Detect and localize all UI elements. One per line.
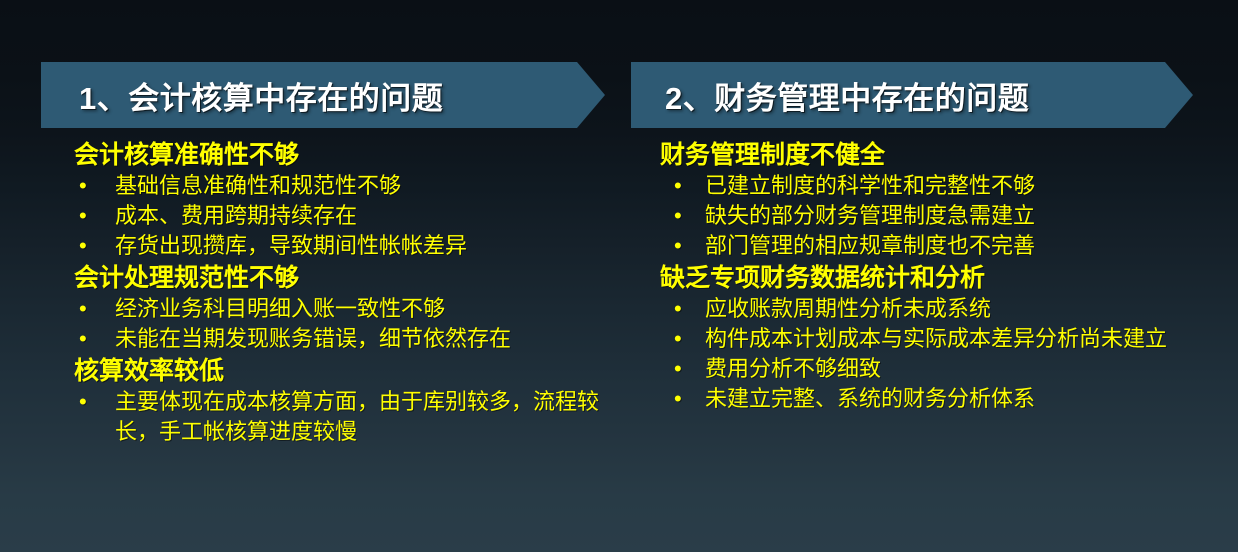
group-heading: 财务管理制度不健全 [660, 140, 1205, 171]
bullet-list: • 基础信息准确性和规范性不够 • 成本、费用跨期持续存在 • 存货出现攒库，导… [74, 171, 619, 261]
content-column-left: 会计核算准确性不够 • 基础信息准确性和规范性不够 • 成本、费用跨期持续存在 … [74, 140, 619, 449]
list-item-label: 部门管理的相应规章制度也不完善 [705, 231, 1205, 261]
list-item-label: 缺失的部分财务管理制度急需建立 [705, 201, 1205, 231]
list-item-label: 已建立制度的科学性和完整性不够 [705, 171, 1205, 201]
list-item: • 经济业务科目明细入账一致性不够 [74, 294, 619, 324]
list-item-label: 费用分析不够细致 [705, 354, 1205, 384]
bullet-dot-icon: • [674, 324, 682, 354]
list-item-label: 经济业务科目明细入账一致性不够 [115, 294, 619, 324]
list-item: • 应收账款周期性分析未成系统 [660, 294, 1205, 324]
bullet-dot-icon: • [79, 231, 87, 261]
section-banner-1-label: 1、会计核算中存在的问题 [79, 73, 443, 118]
list-item-label: 成本、费用跨期持续存在 [115, 201, 619, 231]
group-heading: 核算效率较低 [74, 356, 619, 387]
list-item-label: 基础信息准确性和规范性不够 [115, 171, 619, 201]
bullet-dot-icon: • [674, 354, 682, 384]
content-group: 缺乏专项财务数据统计和分析 • 应收账款周期性分析未成系统 • 构件成本计划成本… [660, 263, 1205, 414]
list-item-label: 构件成本计划成本与实际成本差异分析尚未建立 [705, 324, 1205, 354]
group-heading: 会计处理规范性不够 [74, 263, 619, 294]
slide-canvas: 1、会计核算中存在的问题 2、财务管理中存在的问题 会计核算准确性不够 • 基础… [0, 0, 1238, 552]
list-item: • 部门管理的相应规章制度也不完善 [660, 231, 1205, 261]
list-item: • 成本、费用跨期持续存在 [74, 201, 619, 231]
bullet-list: • 应收账款周期性分析未成系统 • 构件成本计划成本与实际成本差异分析尚未建立 … [660, 294, 1205, 414]
list-item: • 已建立制度的科学性和完整性不够 [660, 171, 1205, 201]
list-item: • 存货出现攒库，导致期间性帐帐差异 [74, 231, 619, 261]
list-item-label: 未能在当期发现账务错误，细节依然存在 [115, 324, 619, 354]
section-banner-2: 2、财务管理中存在的问题 [631, 62, 1193, 128]
bullet-dot-icon: • [79, 324, 87, 354]
bullet-dot-icon: • [79, 387, 87, 417]
bullet-dot-icon: • [674, 384, 682, 414]
bullet-dot-icon: • [79, 294, 87, 324]
group-heading: 缺乏专项财务数据统计和分析 [660, 263, 1205, 294]
bullet-list: • 已建立制度的科学性和完整性不够 • 缺失的部分财务管理制度急需建立 • 部门… [660, 171, 1205, 261]
content-group: 会计处理规范性不够 • 经济业务科目明细入账一致性不够 • 未能在当期发现账务错… [74, 263, 619, 354]
content-column-right: 财务管理制度不健全 • 已建立制度的科学性和完整性不够 • 缺失的部分财务管理制… [660, 140, 1205, 416]
section-banner-1: 1、会计核算中存在的问题 [41, 62, 605, 128]
bullet-dot-icon: • [79, 201, 87, 231]
bullet-dot-icon: • [79, 171, 87, 201]
group-heading: 会计核算准确性不够 [74, 140, 619, 171]
bullet-dot-icon: • [674, 201, 682, 231]
bullet-list: • 经济业务科目明细入账一致性不够 • 未能在当期发现账务错误，细节依然存在 [74, 294, 619, 354]
section-banner-2-label: 2、财务管理中存在的问题 [665, 73, 1029, 118]
bullet-list: • 主要体现在成本核算方面，由于库别较多，流程较长，手工帐核算进度较慢 [74, 387, 619, 447]
content-group: 核算效率较低 • 主要体现在成本核算方面，由于库别较多，流程较长，手工帐核算进度… [74, 356, 619, 447]
list-item: • 缺失的部分财务管理制度急需建立 [660, 201, 1205, 231]
list-item: • 费用分析不够细致 [660, 354, 1205, 384]
bullet-dot-icon: • [674, 231, 682, 261]
content-group: 会计核算准确性不够 • 基础信息准确性和规范性不够 • 成本、费用跨期持续存在 … [74, 140, 619, 261]
bullet-dot-icon: • [674, 294, 682, 324]
list-item-label: 应收账款周期性分析未成系统 [705, 294, 1205, 324]
list-item: • 基础信息准确性和规范性不够 [74, 171, 619, 201]
content-group: 财务管理制度不健全 • 已建立制度的科学性和完整性不够 • 缺失的部分财务管理制… [660, 140, 1205, 261]
list-item: • 未能在当期发现账务错误，细节依然存在 [74, 324, 619, 354]
list-item: • 未建立完整、系统的财务分析体系 [660, 384, 1205, 414]
list-item: • 主要体现在成本核算方面，由于库别较多，流程较长，手工帐核算进度较慢 [74, 387, 619, 447]
list-item: • 构件成本计划成本与实际成本差异分析尚未建立 [660, 324, 1205, 354]
list-item-label: 未建立完整、系统的财务分析体系 [705, 384, 1205, 414]
list-item-label: 主要体现在成本核算方面，由于库别较多，流程较长，手工帐核算进度较慢 [115, 387, 619, 447]
list-item-label: 存货出现攒库，导致期间性帐帐差异 [115, 231, 619, 261]
bullet-dot-icon: • [674, 171, 682, 201]
